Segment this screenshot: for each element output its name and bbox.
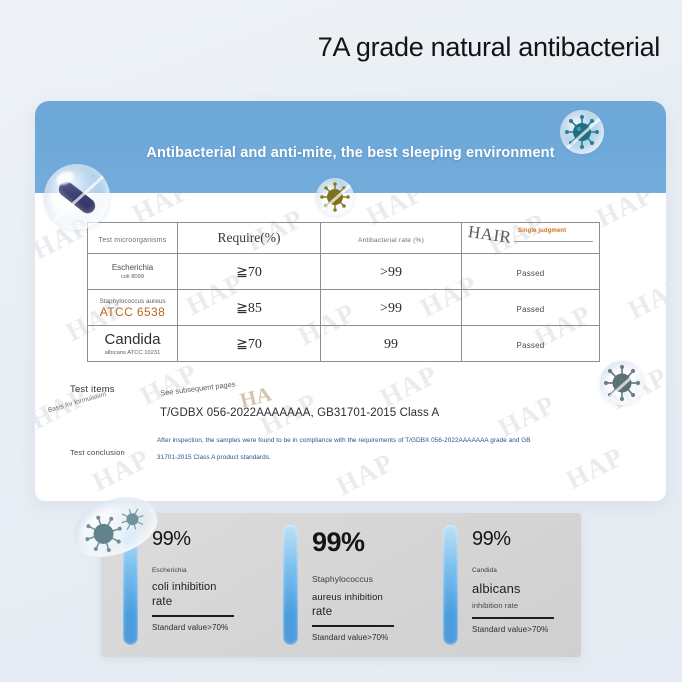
th-require-label: Require(%) [218, 230, 281, 245]
watermark-text: HAP [561, 441, 629, 496]
stat-divider [472, 617, 554, 619]
stat-percent: 99% [312, 529, 417, 556]
th-microorganisms: Test microorganisms [88, 223, 178, 254]
organism-name: Escherichia [88, 263, 177, 272]
antibacterial-results-table: Test microorganisms Require(%) Antibacte… [87, 222, 599, 362]
stat-card-escherichia: 99% Escherichia coli inhibition rate Sta… [101, 513, 261, 657]
see-subsequent-pages-note: See subsequent pages [160, 379, 236, 397]
stat-organism: Escherichia [152, 567, 257, 574]
stat-standard-value: Standard value>70% [152, 623, 257, 632]
stat-divider [152, 615, 234, 617]
cell-rate: >99 [321, 254, 462, 290]
organism-strain: ATCC 6538 [88, 305, 177, 319]
organism-name: Staphylococcus aureus [88, 298, 177, 305]
organism-strain: albicans ATCC 10231 [88, 350, 177, 356]
judgment-value: Passed [517, 269, 545, 278]
report-banner: Antibacterial and anti-mite, the best sl… [35, 101, 666, 193]
banner-title: Antibacterial and anti-mite, the best sl… [35, 145, 666, 161]
stat-organism: Candida [472, 567, 577, 574]
cell-rate: >99 [321, 290, 462, 326]
require-value: ≧70 [236, 265, 262, 280]
stat-organism: Staphylococcus [312, 574, 417, 584]
th-judgment-label: Single judgment [518, 228, 566, 234]
table-row: Staphylococcus aureus ATCC 6538 ≧85 >99 … [88, 290, 600, 326]
judgment-value: Passed [517, 305, 545, 314]
stat-card-staphylococcus: 99% Staphylococcus aureus inhibition rat… [261, 513, 421, 657]
cell-organism: Escherichia coli 8099 [88, 254, 178, 290]
test-conclusion-line-1: After inspection, the samples were found… [157, 437, 531, 444]
rate-value: >99 [380, 265, 402, 280]
watermark-text: HAP [331, 447, 399, 501]
th-antibacterial-rate-label: Antibacterial rate (%) [358, 237, 424, 244]
stat-description-line1: albicans [472, 581, 577, 596]
watermark-text: HAP [605, 361, 666, 416]
watermark-text: HAP [623, 271, 666, 326]
table-header-row: Test microorganisms Require(%) Antibacte… [88, 223, 600, 254]
progress-bar-staphylococcus [283, 525, 298, 645]
test-conclusion-line-2: 31701-2015 Class A product standards. [157, 454, 271, 461]
organism-name: Candida [88, 331, 177, 348]
watermark-text: HAP [35, 211, 95, 266]
progress-bar-escherichia [123, 525, 138, 645]
cell-rate: 99 [321, 326, 462, 362]
page-title: 7A grade natural antibacterial [318, 32, 660, 63]
cell-judgment: Passed [462, 290, 600, 326]
judgment-underline [514, 241, 593, 242]
watermark-text: HAP [493, 389, 561, 444]
rate-value: 99 [384, 337, 398, 352]
cell-require: ≧70 [178, 326, 321, 362]
stat-description-line1: coli inhibition [152, 581, 257, 593]
stat-card-candida: 99% Candida albicans inhibition rate Sta… [421, 513, 581, 657]
stat-percent: 99% [152, 529, 257, 549]
require-value: ≧70 [236, 337, 262, 352]
watermark-text: HAP [375, 359, 443, 414]
stat-description-line2: rate [152, 596, 257, 608]
watermark-text: HAP [591, 193, 659, 234]
rate-value: >99 [380, 301, 402, 316]
cell-require: ≧70 [178, 254, 321, 290]
organism-strain: coli 8099 [88, 274, 177, 280]
judgment-value: Passed [517, 341, 545, 350]
standards-reference: T/GDBX 056-2022AAAAAAA, GB31701-2015 Cla… [160, 407, 439, 419]
stat-description-line1: aureus inhibition [312, 592, 417, 603]
stat-standard-value: Standard value>70% [312, 633, 417, 642]
inhibition-stats-panel: 99% Escherichia coli inhibition rate Sta… [101, 513, 581, 657]
brand-wordmark: HAIR [467, 222, 513, 248]
require-value: ≧85 [236, 301, 262, 316]
th-microorganisms-label: Test microorganisms [99, 237, 167, 244]
stat-divider [312, 625, 394, 627]
th-antibacterial-rate: Antibacterial rate (%) [321, 223, 462, 254]
stat-percent: 99% [472, 529, 577, 549]
cell-organism: Candida albicans ATCC 10231 [88, 326, 178, 362]
report-card: Antibacterial and anti-mite, the best sl… [35, 101, 666, 501]
stat-description-line2: rate [312, 606, 417, 618]
th-judgment: HAIR Single judgment [462, 223, 600, 254]
stat-standard-value: Standard value>70% [472, 625, 577, 634]
table-row: Escherichia coli 8099 ≧70 >99 Passed [88, 254, 600, 290]
stat-description-line2: inhibition rate [472, 601, 577, 610]
cell-judgment: Passed [462, 254, 600, 290]
cell-require: ≧85 [178, 290, 321, 326]
cell-judgment: Passed [462, 326, 600, 362]
cell-organism: Staphylococcus aureus ATCC 6538 [88, 290, 178, 326]
table-row: Candida albicans ATCC 10231 ≧70 99 Passe… [88, 326, 600, 362]
th-require: Require(%) [178, 223, 321, 254]
test-conclusion-label: Test conclusion [70, 448, 125, 457]
progress-bar-candida [443, 525, 458, 645]
